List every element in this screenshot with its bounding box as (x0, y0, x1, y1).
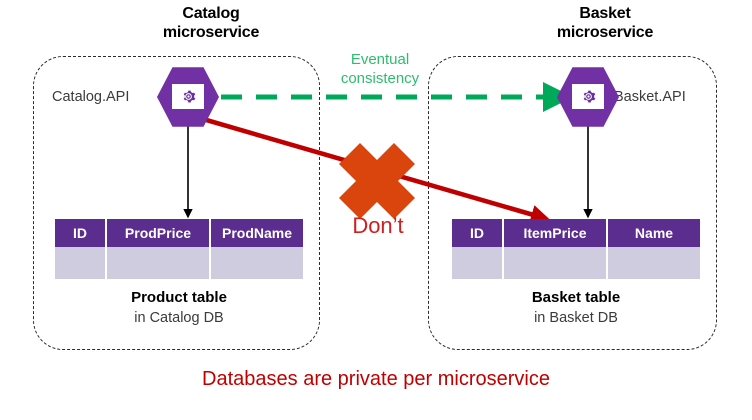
catalog-title-line2: microservice (163, 24, 259, 41)
product-table-caption-sub: in Catalog DB (55, 308, 303, 328)
diagram-canvas: Catalog microservice Basket microservice… (0, 0, 752, 420)
eventual-consistency-line1: Eventual (351, 51, 409, 68)
gear-icon-plate (572, 84, 604, 109)
eventual-consistency-line2: consistency (341, 70, 419, 87)
basket-table-caption: Basket table in Basket DB (452, 288, 700, 328)
basket-table-caption-title: Basket table (452, 288, 700, 308)
basket-title-line2: microservice (557, 24, 653, 41)
basket-microservice-title: Basket microservice (512, 4, 698, 42)
basket-title-line1: Basket (579, 5, 630, 22)
gear-icon (181, 89, 196, 104)
cell-id (55, 247, 107, 279)
column-header-itemprice: ItemPrice (504, 219, 608, 247)
red-x-cross-icon (339, 143, 415, 219)
column-header-prodprice: ProdPrice (107, 219, 211, 247)
dont-label: Don’t (318, 213, 438, 239)
table-header-row: ID ProdPrice ProdName (55, 219, 303, 247)
catalog-api-label: Catalog.API (52, 89, 129, 105)
table-row (452, 247, 700, 279)
cell-name (608, 247, 700, 279)
column-header-name: Name (608, 219, 700, 247)
eventual-consistency-label: Eventual consistency (325, 50, 435, 88)
table-row (55, 247, 303, 279)
product-table: ID ProdPrice ProdName (55, 219, 303, 279)
catalog-api-node[interactable] (157, 66, 219, 128)
gear-icon-plate (172, 84, 204, 109)
catalog-title-line1: Catalog (182, 5, 239, 22)
column-header-id: ID (55, 219, 107, 247)
catalog-microservice-title: Catalog microservice (118, 4, 304, 42)
basket-table: ID ItemPrice Name (452, 219, 700, 279)
basket-table-caption-sub: in Basket DB (452, 308, 700, 328)
cell-id (452, 247, 504, 279)
cell-prodprice (107, 247, 211, 279)
gear-icon (581, 89, 596, 104)
cell-itemprice (504, 247, 608, 279)
basket-api-label: Basket.API (614, 89, 686, 105)
column-header-id: ID (452, 219, 504, 247)
table-header-row: ID ItemPrice Name (452, 219, 700, 247)
cell-prodname (211, 247, 303, 279)
product-table-caption-title: Product table (55, 288, 303, 308)
footer-caption: Databases are private per microservice (0, 368, 752, 391)
basket-api-node[interactable] (557, 66, 619, 128)
product-table-caption: Product table in Catalog DB (55, 288, 303, 328)
column-header-prodname: ProdName (211, 219, 303, 247)
